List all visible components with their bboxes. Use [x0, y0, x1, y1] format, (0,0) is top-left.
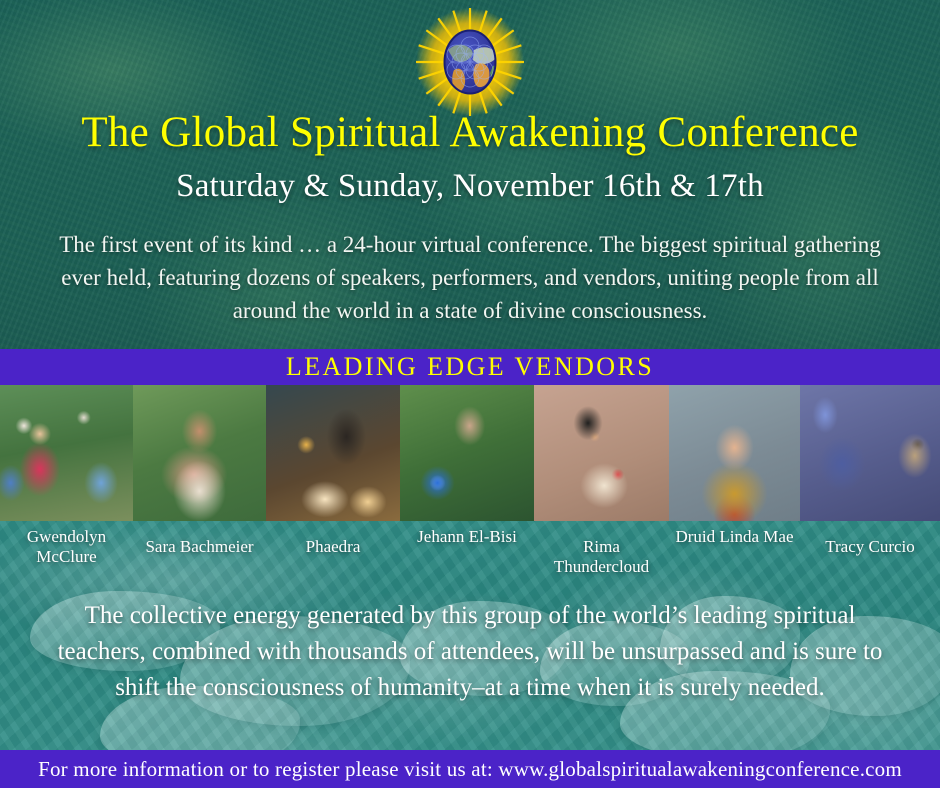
conference-poster: The Global Spiritual Awakening Conferenc… [0, 0, 940, 788]
vendor-photo-tracy-curcio[interactable] [800, 385, 940, 521]
event-dates: Saturday & Sunday, November 16th & 17th [0, 168, 940, 205]
page-title: The Global Spiritual Awakening Conferenc… [0, 108, 940, 157]
vendor-photo-druid-linda-mae[interactable] [669, 385, 800, 521]
vendor-photo-strip [0, 385, 940, 521]
vendor-photo-phaedra[interactable] [266, 385, 400, 521]
intro-paragraph: The first event of its kind … a 24-hour … [42, 228, 898, 327]
vendor-name-phaedra: Phaedra [266, 521, 400, 581]
vendor-photo-jehann-el-bisi[interactable] [400, 385, 534, 521]
vendor-name-tracy-curcio: Tracy Curcio [800, 521, 940, 581]
vendor-name-rima-thundercloud: Rima Thundercloud [534, 521, 669, 581]
vendor-name-sara-bachmeier: Sara Bachmeier [133, 521, 266, 581]
leading-edge-vendors-banner: LEADING EDGE VENDORS [0, 349, 940, 385]
vendor-photo-gwendolyn-mcclure[interactable] [0, 385, 133, 521]
globe-sunburst-icon [414, 6, 526, 118]
closing-paragraph: The collective energy generated by this … [42, 598, 898, 706]
vendor-photo-sara-bachmeier[interactable] [133, 385, 266, 521]
banner-label: LEADING EDGE VENDORS [286, 352, 654, 382]
footer-bar: For more information or to register plea… [0, 750, 940, 788]
vendor-photo-rima-thundercloud[interactable] [534, 385, 669, 521]
logo-container [0, 6, 940, 123]
vendor-name-jehann-el-bisi: Jehann El-Bisi [400, 521, 534, 581]
footer-website-text[interactable]: For more information or to register plea… [38, 757, 902, 782]
vendor-name-druid-linda-mae: Druid Linda Mae [669, 521, 800, 581]
vendor-name-gwendolyn-mcclure: Gwendolyn McClure [0, 521, 133, 581]
vendor-names-row: Gwendolyn McClure Sara Bachmeier Phaedra… [0, 521, 940, 581]
